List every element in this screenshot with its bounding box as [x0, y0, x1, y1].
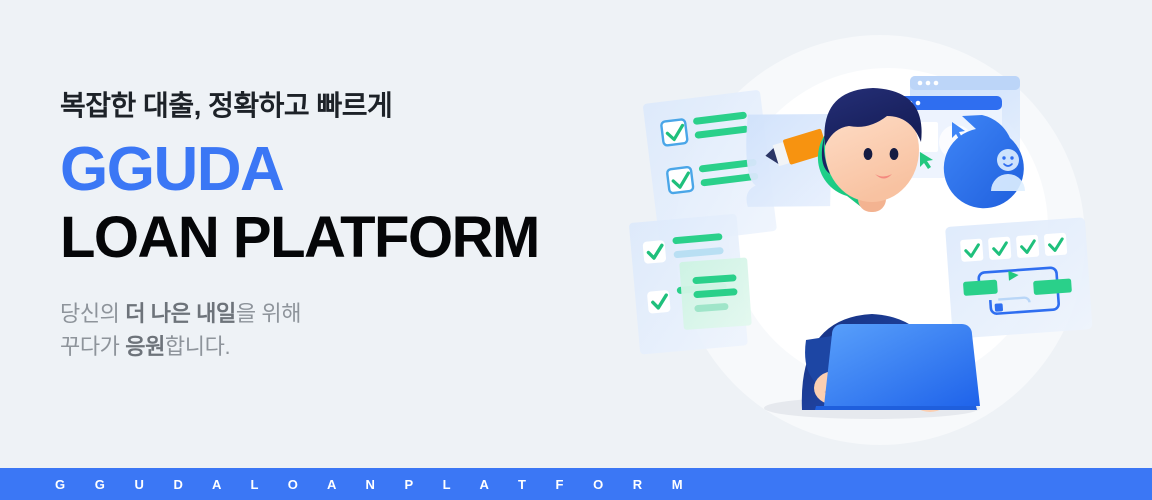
hero-banner: 복잡한 대출, 정확하고 빠르게 GGUDA LOAN PLATFORM 당신의… — [0, 0, 1152, 500]
window-dot — [926, 81, 931, 86]
hero-tagline: 당신의 더 나은 내일을 위해 꾸다가 응원합니다. — [60, 298, 620, 363]
tagline-line-2: 꾸다가 응원합니다. — [60, 331, 620, 364]
marquee-text: G G U D A L O A N P L A T F O R M — [0, 477, 696, 492]
tagline-line-2-strong: 응원 — [125, 334, 165, 359]
hero-copy-block: 복잡한 대출, 정확하고 빠르게 GGUDA LOAN PLATFORM 당신의… — [60, 88, 620, 363]
hero-eyebrow: 복잡한 대출, 정확하고 빠르게 — [60, 88, 620, 123]
tagline-line-2-pre: 꾸다가 — [60, 334, 125, 359]
tagline-line-1-strong: 더 나은 내일 — [125, 301, 236, 326]
window-dot — [918, 81, 923, 86]
tagline-line-1-post: 을 위해 — [236, 301, 301, 326]
tagline-line-1-pre: 당신의 — [60, 301, 125, 326]
laptop — [824, 324, 980, 406]
person-eye — [890, 148, 899, 160]
window-dot — [916, 101, 921, 106]
mint-note-card — [679, 257, 752, 330]
person-eye — [864, 148, 873, 160]
tagline-line-1: 당신의 더 나은 내일을 위해 — [60, 298, 620, 331]
avatar — [997, 149, 1019, 171]
marquee-bar: G G U D A L O A N P L A T F O R M — [0, 468, 1152, 500]
workflow-card — [945, 217, 1092, 338]
page-title: LOAN PLATFORM — [60, 206, 620, 270]
hero-illustration — [620, 10, 1140, 460]
window-dot — [934, 81, 939, 86]
brand-name: GGUDA — [60, 135, 620, 204]
tagline-line-2-post: 합니다. — [165, 334, 230, 359]
